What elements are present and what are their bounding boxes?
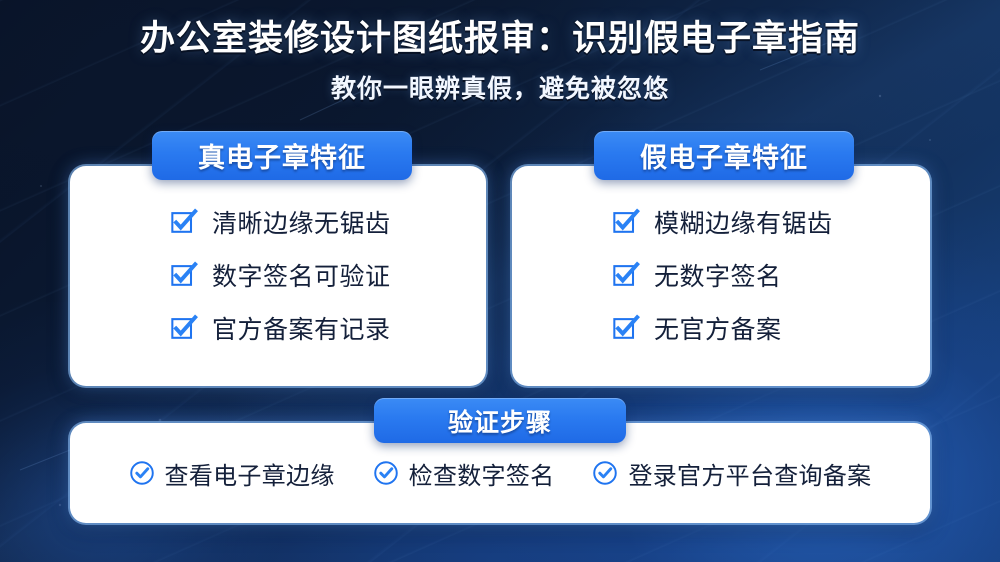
list-item-label: 无数字签名 (654, 257, 782, 293)
list-item-label: 清晰边缘无锯齿 (212, 204, 391, 240)
circle-check-icon (129, 460, 155, 486)
list-item: 数字签名可验证 (170, 257, 391, 293)
list-item: 官方备案有记录 (170, 310, 391, 346)
list-item-label: 查看电子章边缘 (165, 456, 335, 491)
checkbox-checked-icon (612, 314, 640, 342)
card-header-true-seal: 真电子章特征 (152, 131, 412, 180)
card-header-verification-steps: 验证步骤 (374, 398, 626, 443)
card-fake-seal-features: 模糊边缘有锯齿 无数字签名 无官方备案 (512, 166, 930, 386)
list-item: 登录官方平台查询备案 (592, 456, 871, 491)
header: 办公室装修设计图纸报审：识别假电子章指南 教你一眼辨真假，避免被忽悠 (0, 18, 1000, 105)
checkbox-checked-icon (170, 314, 198, 342)
checkbox-checked-icon (170, 261, 198, 289)
list-item-label: 检查数字签名 (409, 456, 555, 491)
checkbox-checked-icon (170, 208, 198, 236)
list-item: 无数字签名 (612, 257, 782, 293)
card-header-fake-seal: 假电子章特征 (594, 131, 854, 180)
list-item: 查看电子章边缘 (129, 456, 335, 491)
list-item-label: 官方备案有记录 (212, 310, 391, 346)
infographic-canvas: 办公室装修设计图纸报审：识别假电子章指南 教你一眼辨真假，避免被忽悠 清晰边缘无… (0, 0, 1000, 562)
circle-check-icon (373, 460, 399, 486)
list-item: 清晰边缘无锯齿 (170, 204, 391, 240)
list-item-label: 无官方备案 (654, 310, 782, 346)
true-seal-feature-list: 清晰边缘无锯齿 数字签名可验证 官方备案有记录 (70, 204, 486, 346)
checkbox-checked-icon (612, 208, 640, 236)
fake-seal-feature-list: 模糊边缘有锯齿 无数字签名 无官方备案 (512, 204, 930, 346)
card-true-seal-features: 清晰边缘无锯齿 数字签名可验证 官方备案有记录 (70, 166, 486, 386)
list-item: 无官方备案 (612, 310, 782, 346)
page-subtitle: 教你一眼辨真假，避免被忽悠 (0, 69, 1000, 105)
list-item-label: 模糊边缘有锯齿 (654, 204, 833, 240)
list-item: 模糊边缘有锯齿 (612, 204, 833, 240)
checkbox-checked-icon (612, 261, 640, 289)
page-title: 办公室装修设计图纸报审：识别假电子章指南 (0, 18, 1000, 59)
list-item: 检查数字签名 (373, 456, 555, 491)
list-item-label: 登录官方平台查询备案 (628, 456, 871, 491)
circle-check-icon (592, 460, 618, 486)
list-item-label: 数字签名可验证 (212, 257, 391, 293)
